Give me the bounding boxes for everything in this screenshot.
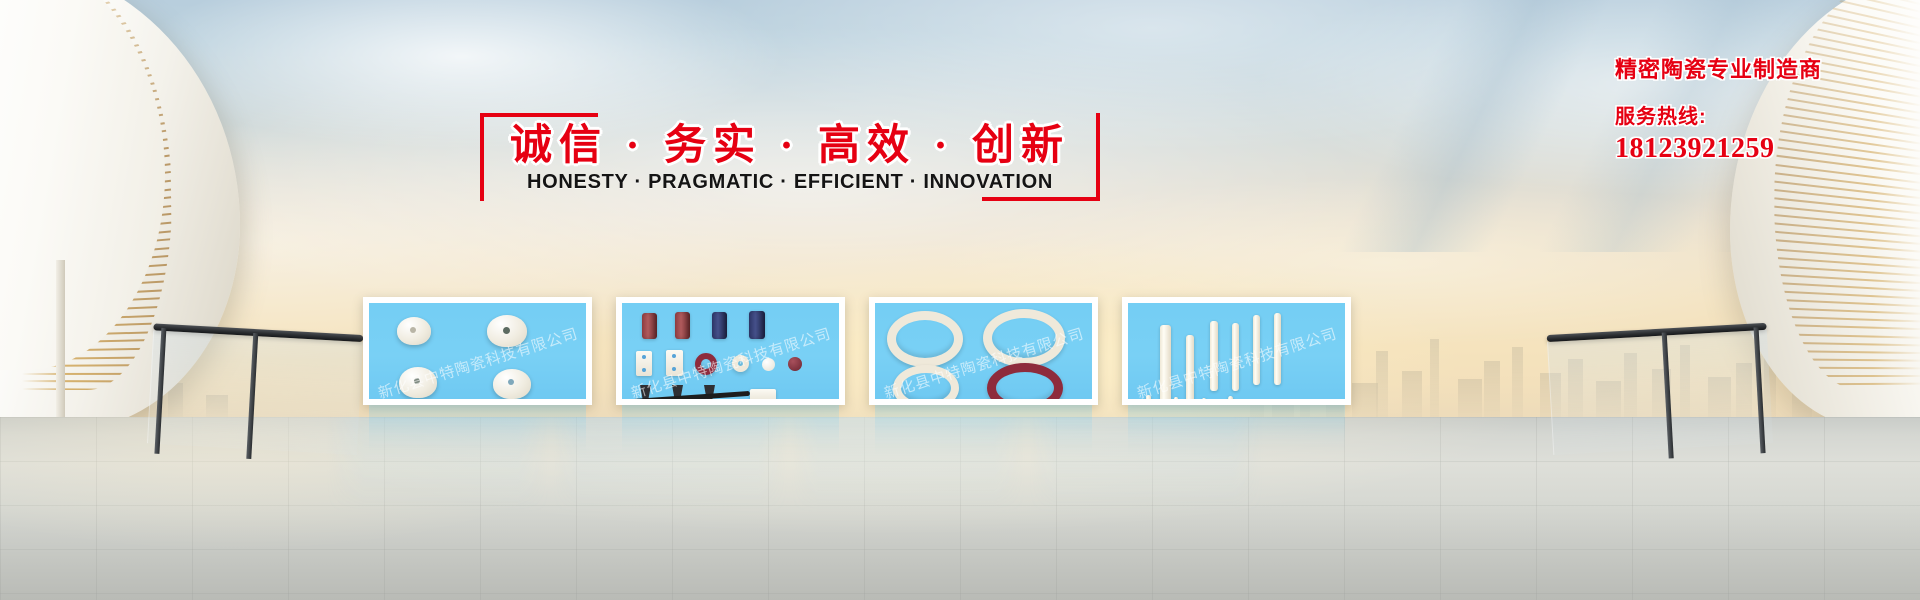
product-panel-3[interactable]: 新化县中特陶瓷科技有限公司 bbox=[869, 297, 1098, 405]
socket-hole bbox=[410, 327, 416, 333]
ceramic-rod bbox=[1160, 325, 1171, 399]
ceramic-rod bbox=[1274, 313, 1281, 385]
ceramic-rod bbox=[1186, 335, 1194, 399]
plate-hole bbox=[672, 367, 676, 371]
plate-hole bbox=[642, 368, 646, 372]
product-panel-4-canvas: 新化县中特陶瓷科技有限公司 bbox=[1128, 303, 1345, 399]
panel-4-reflection bbox=[1128, 405, 1345, 463]
ceramic-rod-short bbox=[1174, 397, 1178, 399]
socket-hole bbox=[508, 379, 514, 385]
banner-stage: 诚信 · 务实 · 高效 · 创新 HONESTY · PRAGMATIC · … bbox=[0, 0, 1920, 600]
ceramic-tube-blue bbox=[749, 311, 765, 339]
panel-2-reflection bbox=[622, 405, 839, 463]
ceramic-ring-large bbox=[887, 311, 963, 367]
socket-hole bbox=[503, 327, 510, 334]
product-panel-row: 新化县中特陶瓷科技有限公司 bbox=[0, 0, 1920, 600]
plate-hole bbox=[642, 355, 646, 359]
ceramic-rod bbox=[1210, 321, 1218, 391]
ceramic-rod-short bbox=[1202, 398, 1206, 399]
ceramic-ring-large bbox=[893, 365, 959, 399]
ceramic-ring-red bbox=[695, 353, 717, 375]
panel-3-reflection bbox=[875, 405, 1092, 463]
ceramic-ring-red-large bbox=[987, 363, 1063, 399]
plate-hole bbox=[672, 354, 676, 358]
ceramic-rod-short bbox=[1146, 395, 1151, 399]
product-panel-1-canvas: 新化县中特陶瓷科技有限公司 bbox=[369, 303, 586, 399]
product-panel-2-canvas: 新化县中特陶瓷科技有限公司 bbox=[622, 303, 839, 399]
ceramic-bead bbox=[762, 358, 775, 371]
product-panel-1[interactable]: 新化县中特陶瓷科技有限公司 bbox=[363, 297, 592, 405]
ceramic-rod bbox=[1253, 315, 1260, 385]
ceramic-rod-short bbox=[1228, 396, 1233, 399]
ceramic-ring-large bbox=[983, 309, 1065, 367]
ceramic-bead-red bbox=[788, 357, 802, 371]
socket-hole bbox=[414, 378, 420, 384]
product-panel-2[interactable]: 新化县中特陶瓷科技有限公司 bbox=[616, 297, 845, 405]
product-panel-4[interactable]: 新化县中特陶瓷科技有限公司 bbox=[1122, 297, 1351, 405]
connector bbox=[750, 389, 776, 399]
ceramic-tube-red bbox=[675, 312, 690, 339]
ceramic-tube-blue bbox=[712, 312, 727, 339]
ceramic-ring-white bbox=[732, 355, 749, 372]
ceramic-tube-red bbox=[642, 313, 657, 339]
watermark-text: 新化县中特陶瓷科技有限公司 bbox=[628, 322, 833, 399]
panel-1-reflection bbox=[369, 405, 586, 463]
product-panel-3-canvas: 新化县中特陶瓷科技有限公司 bbox=[875, 303, 1092, 399]
ceramic-rod bbox=[1232, 323, 1239, 391]
